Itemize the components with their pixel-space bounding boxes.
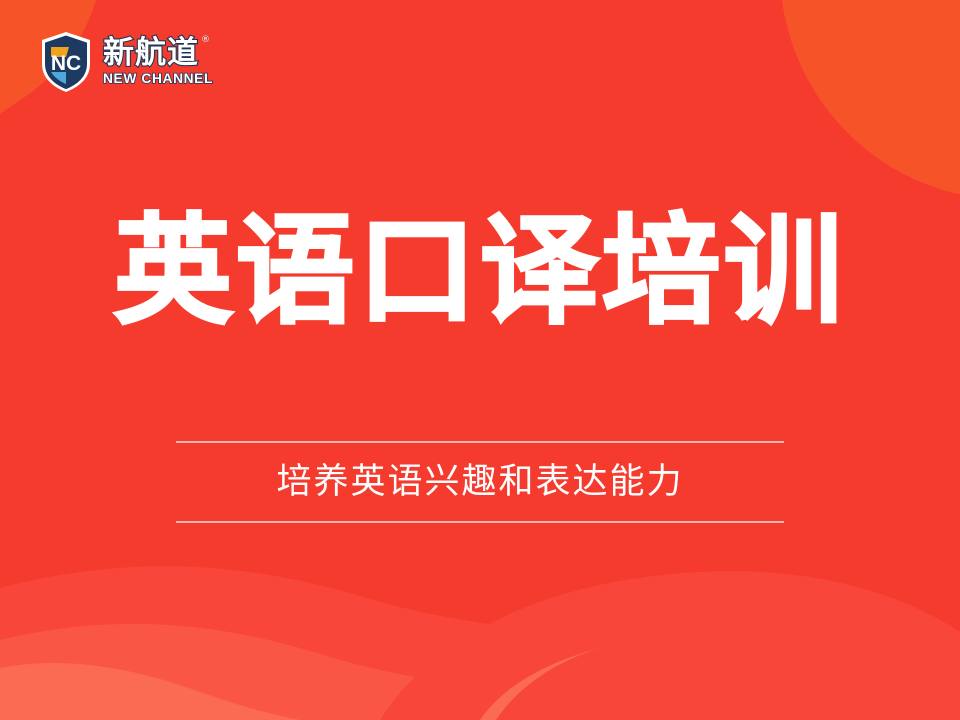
subtitle-rule-bottom — [176, 521, 784, 523]
page-subtitle: 培养英语兴趣和表达能力 — [176, 443, 784, 521]
shield-nc-letters: NC — [51, 52, 81, 75]
registered-trademark-icon: ® — [201, 36, 211, 45]
brand-logo[interactable]: NC 新航道® NEW CHANNEL — [38, 30, 211, 94]
brand-chinese-name: 新航道® — [103, 38, 199, 69]
brand-english-name: NEW CHANNEL — [103, 72, 213, 86]
nc-shield-logo-icon: NC — [38, 30, 94, 94]
brand-chinese-name-text: 新航道 — [103, 35, 199, 71]
poster-canvas: NC 新航道® NEW CHANNEL 英语口译培训 培养英语兴趣和表达能力 — [0, 0, 960, 720]
subtitle-block: 培养英语兴趣和表达能力 — [176, 441, 784, 523]
background-decoration — [0, 0, 960, 720]
page-title: 英语口译培训 — [0, 204, 960, 340]
brand-wordmark: 新航道® NEW CHANNEL — [103, 38, 211, 86]
